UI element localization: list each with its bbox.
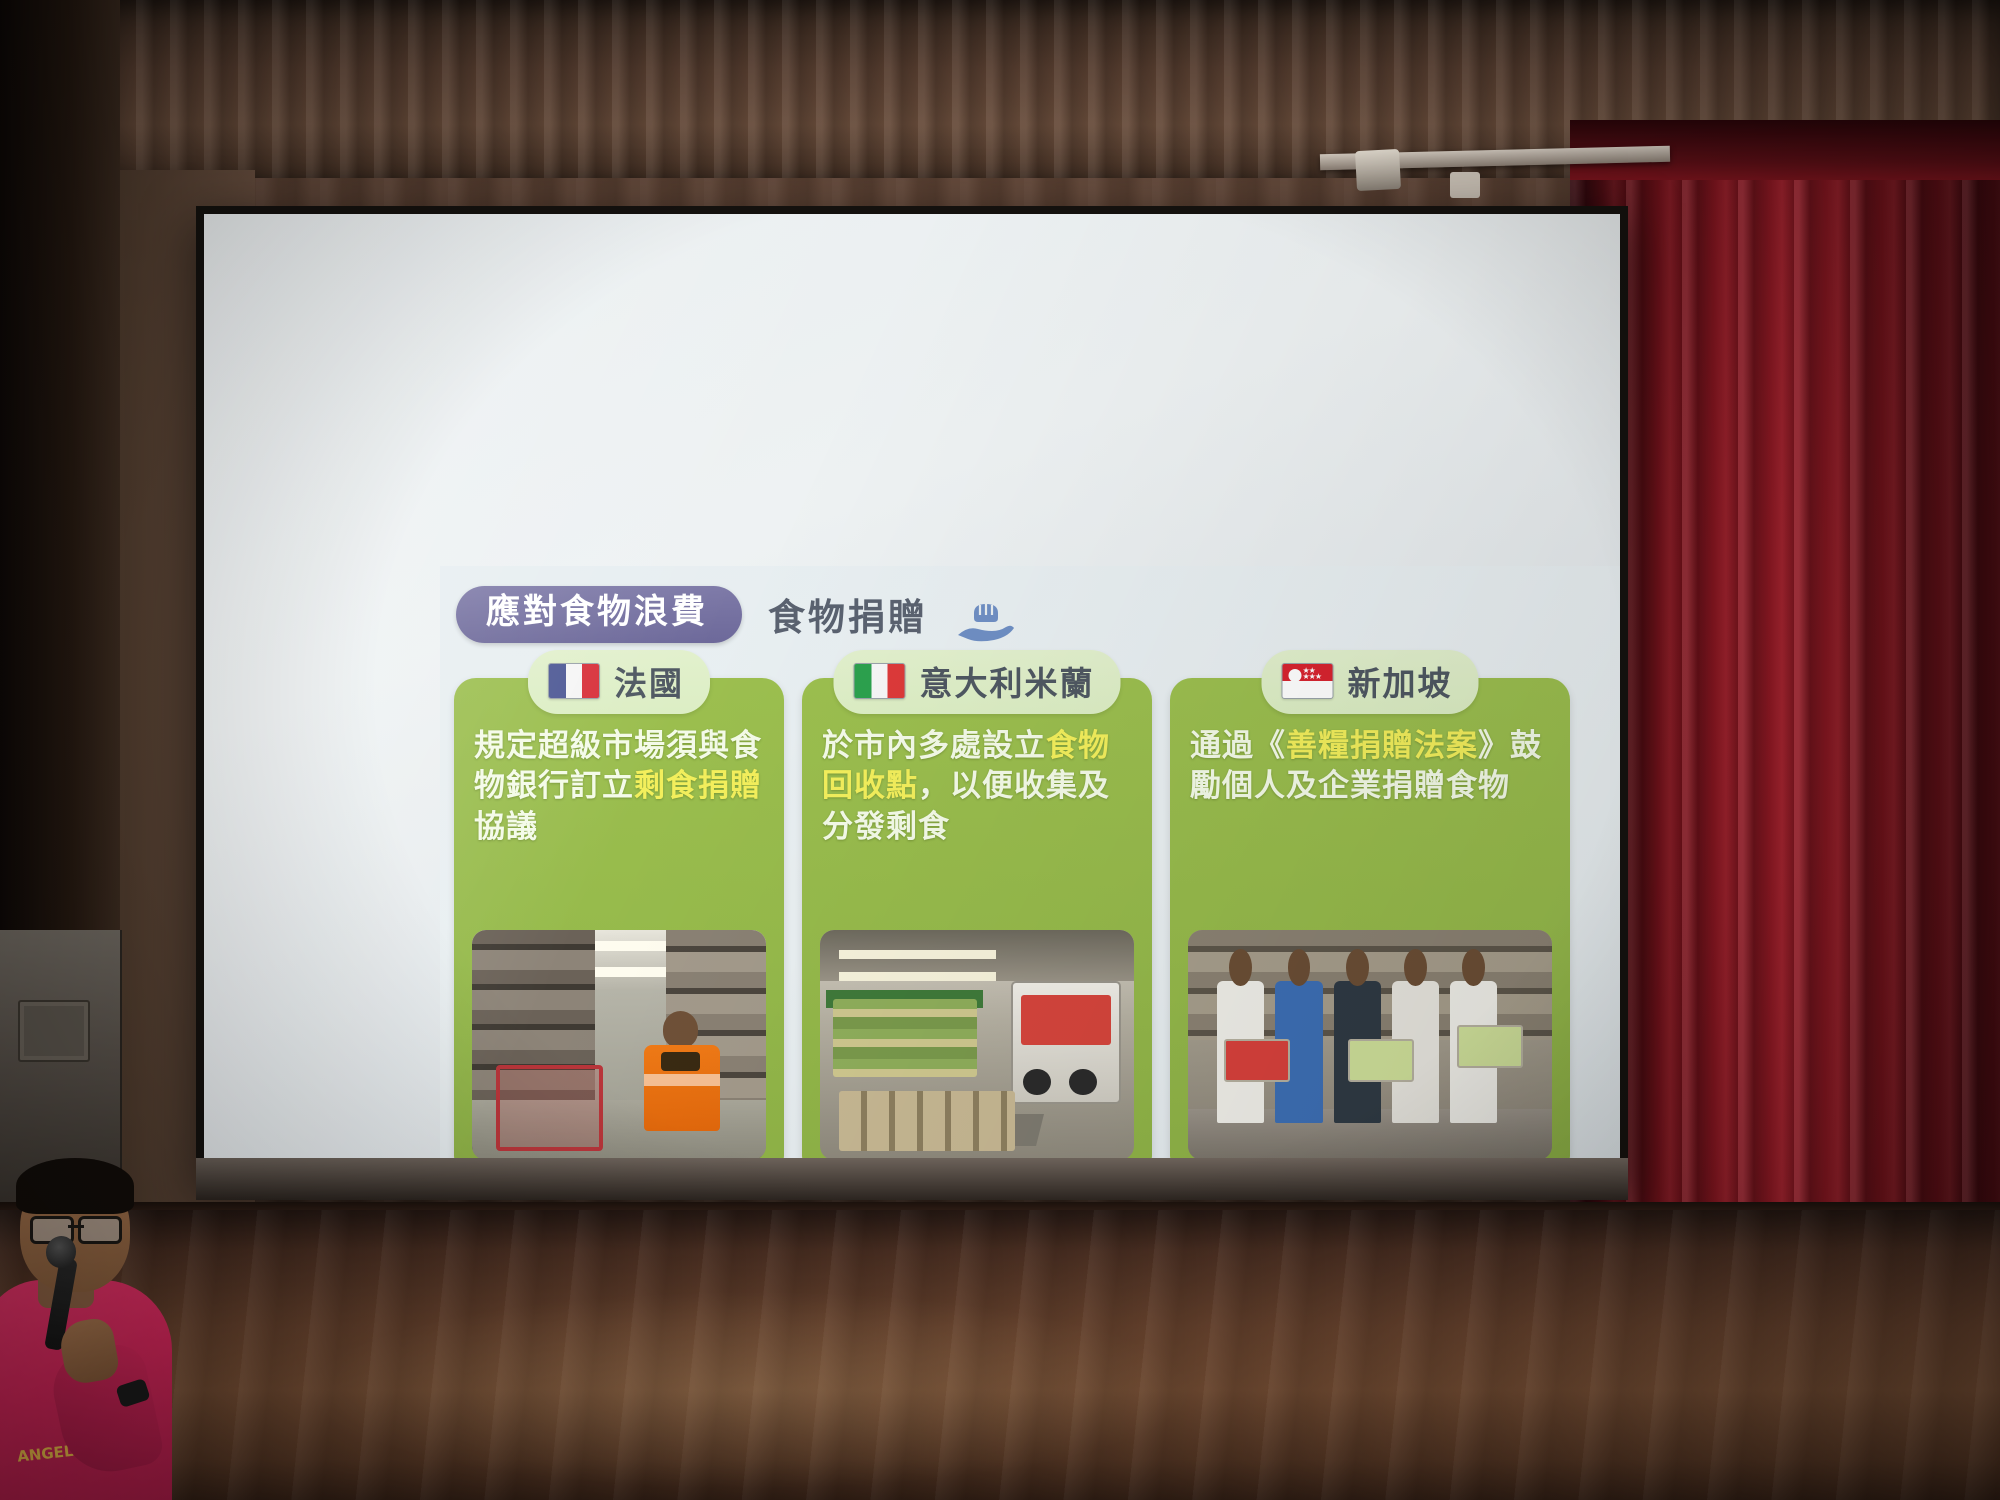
card-text-part: 協議 — [474, 809, 538, 845]
card-text-italy: 於市內多處設立食物回收點，以便收集及分發剩食 — [822, 726, 1132, 847]
country-card-italy: 意大利米蘭 於市內多處設立食物回收點，以便收集及分發剩食 — [802, 678, 1152, 1176]
slide-section-pill: 應對食物浪費 — [456, 586, 742, 643]
warehouse-group-donation-photo — [1188, 930, 1552, 1160]
country-card-france: 法國 規定超級市場須與食物銀行訂立剩食捐贈協議 — [454, 678, 784, 1176]
card-text-highlight: 剩食捐贈 — [634, 768, 762, 804]
singapore-flag-icon: ★★★★★ — [1282, 663, 1334, 699]
country-label-singapore: 新加坡 — [1348, 657, 1453, 705]
slide-header: 應對食物浪費 食物捐贈 — [456, 586, 1018, 643]
card-text-highlight: 善糧捐贈法案 — [1286, 728, 1478, 764]
spotlight-icon — [1355, 149, 1401, 191]
screen-bottom-bar — [196, 1158, 1628, 1200]
projection-screen: 應對食物浪費 食物捐贈 — [204, 214, 1620, 1176]
supermarket-volunteer-photo — [472, 930, 766, 1160]
glasses-icon — [30, 1216, 122, 1238]
card-title-france: 法國 — [528, 650, 710, 714]
card-text-part: 通過《 — [1190, 728, 1286, 764]
card-text-france: 規定超級市場須與食物銀行訂立剩食捐贈協議 — [474, 726, 764, 847]
france-flag-icon — [548, 663, 600, 699]
card-text-part: 於市內多處設立 — [822, 728, 1046, 764]
country-cards: 法國 規定超級市場須與食物銀行訂立剩食捐贈協議 — [454, 678, 1620, 1176]
spotlight-small-icon — [1450, 172, 1480, 198]
red-curtain-fold-texture — [1570, 128, 2000, 1233]
country-label-france: 法國 — [614, 657, 684, 705]
presenter: ANGEL — [0, 1170, 230, 1500]
country-card-singapore: ★★★★★ 新加坡 通過《善糧捐贈法案》鼓勵個人及企業捐贈食物 — [1170, 678, 1570, 1176]
wall-vent-icon — [18, 1000, 90, 1062]
hand-holding-bread-icon — [954, 597, 1018, 643]
card-text-singapore: 通過《善糧捐贈法案》鼓勵個人及企業捐贈食物 — [1190, 726, 1550, 807]
presentation-slide: 應對食物浪費 食物捐贈 — [440, 566, 1620, 1176]
card-title-italy: 意大利米蘭 — [834, 650, 1121, 714]
italy-flag-icon — [854, 663, 906, 699]
country-label-italy: 意大利米蘭 — [920, 657, 1095, 705]
presenter-hair — [16, 1158, 134, 1214]
slide-subtitle: 食物捐贈 — [768, 587, 928, 641]
stage-light-glow — [300, 1290, 1200, 1490]
auditorium-scene: 應對食物浪費 食物捐贈 — [0, 0, 2000, 1500]
market-collection-truck-photo — [820, 930, 1134, 1160]
card-title-singapore: ★★★★★ 新加坡 — [1262, 650, 1479, 714]
